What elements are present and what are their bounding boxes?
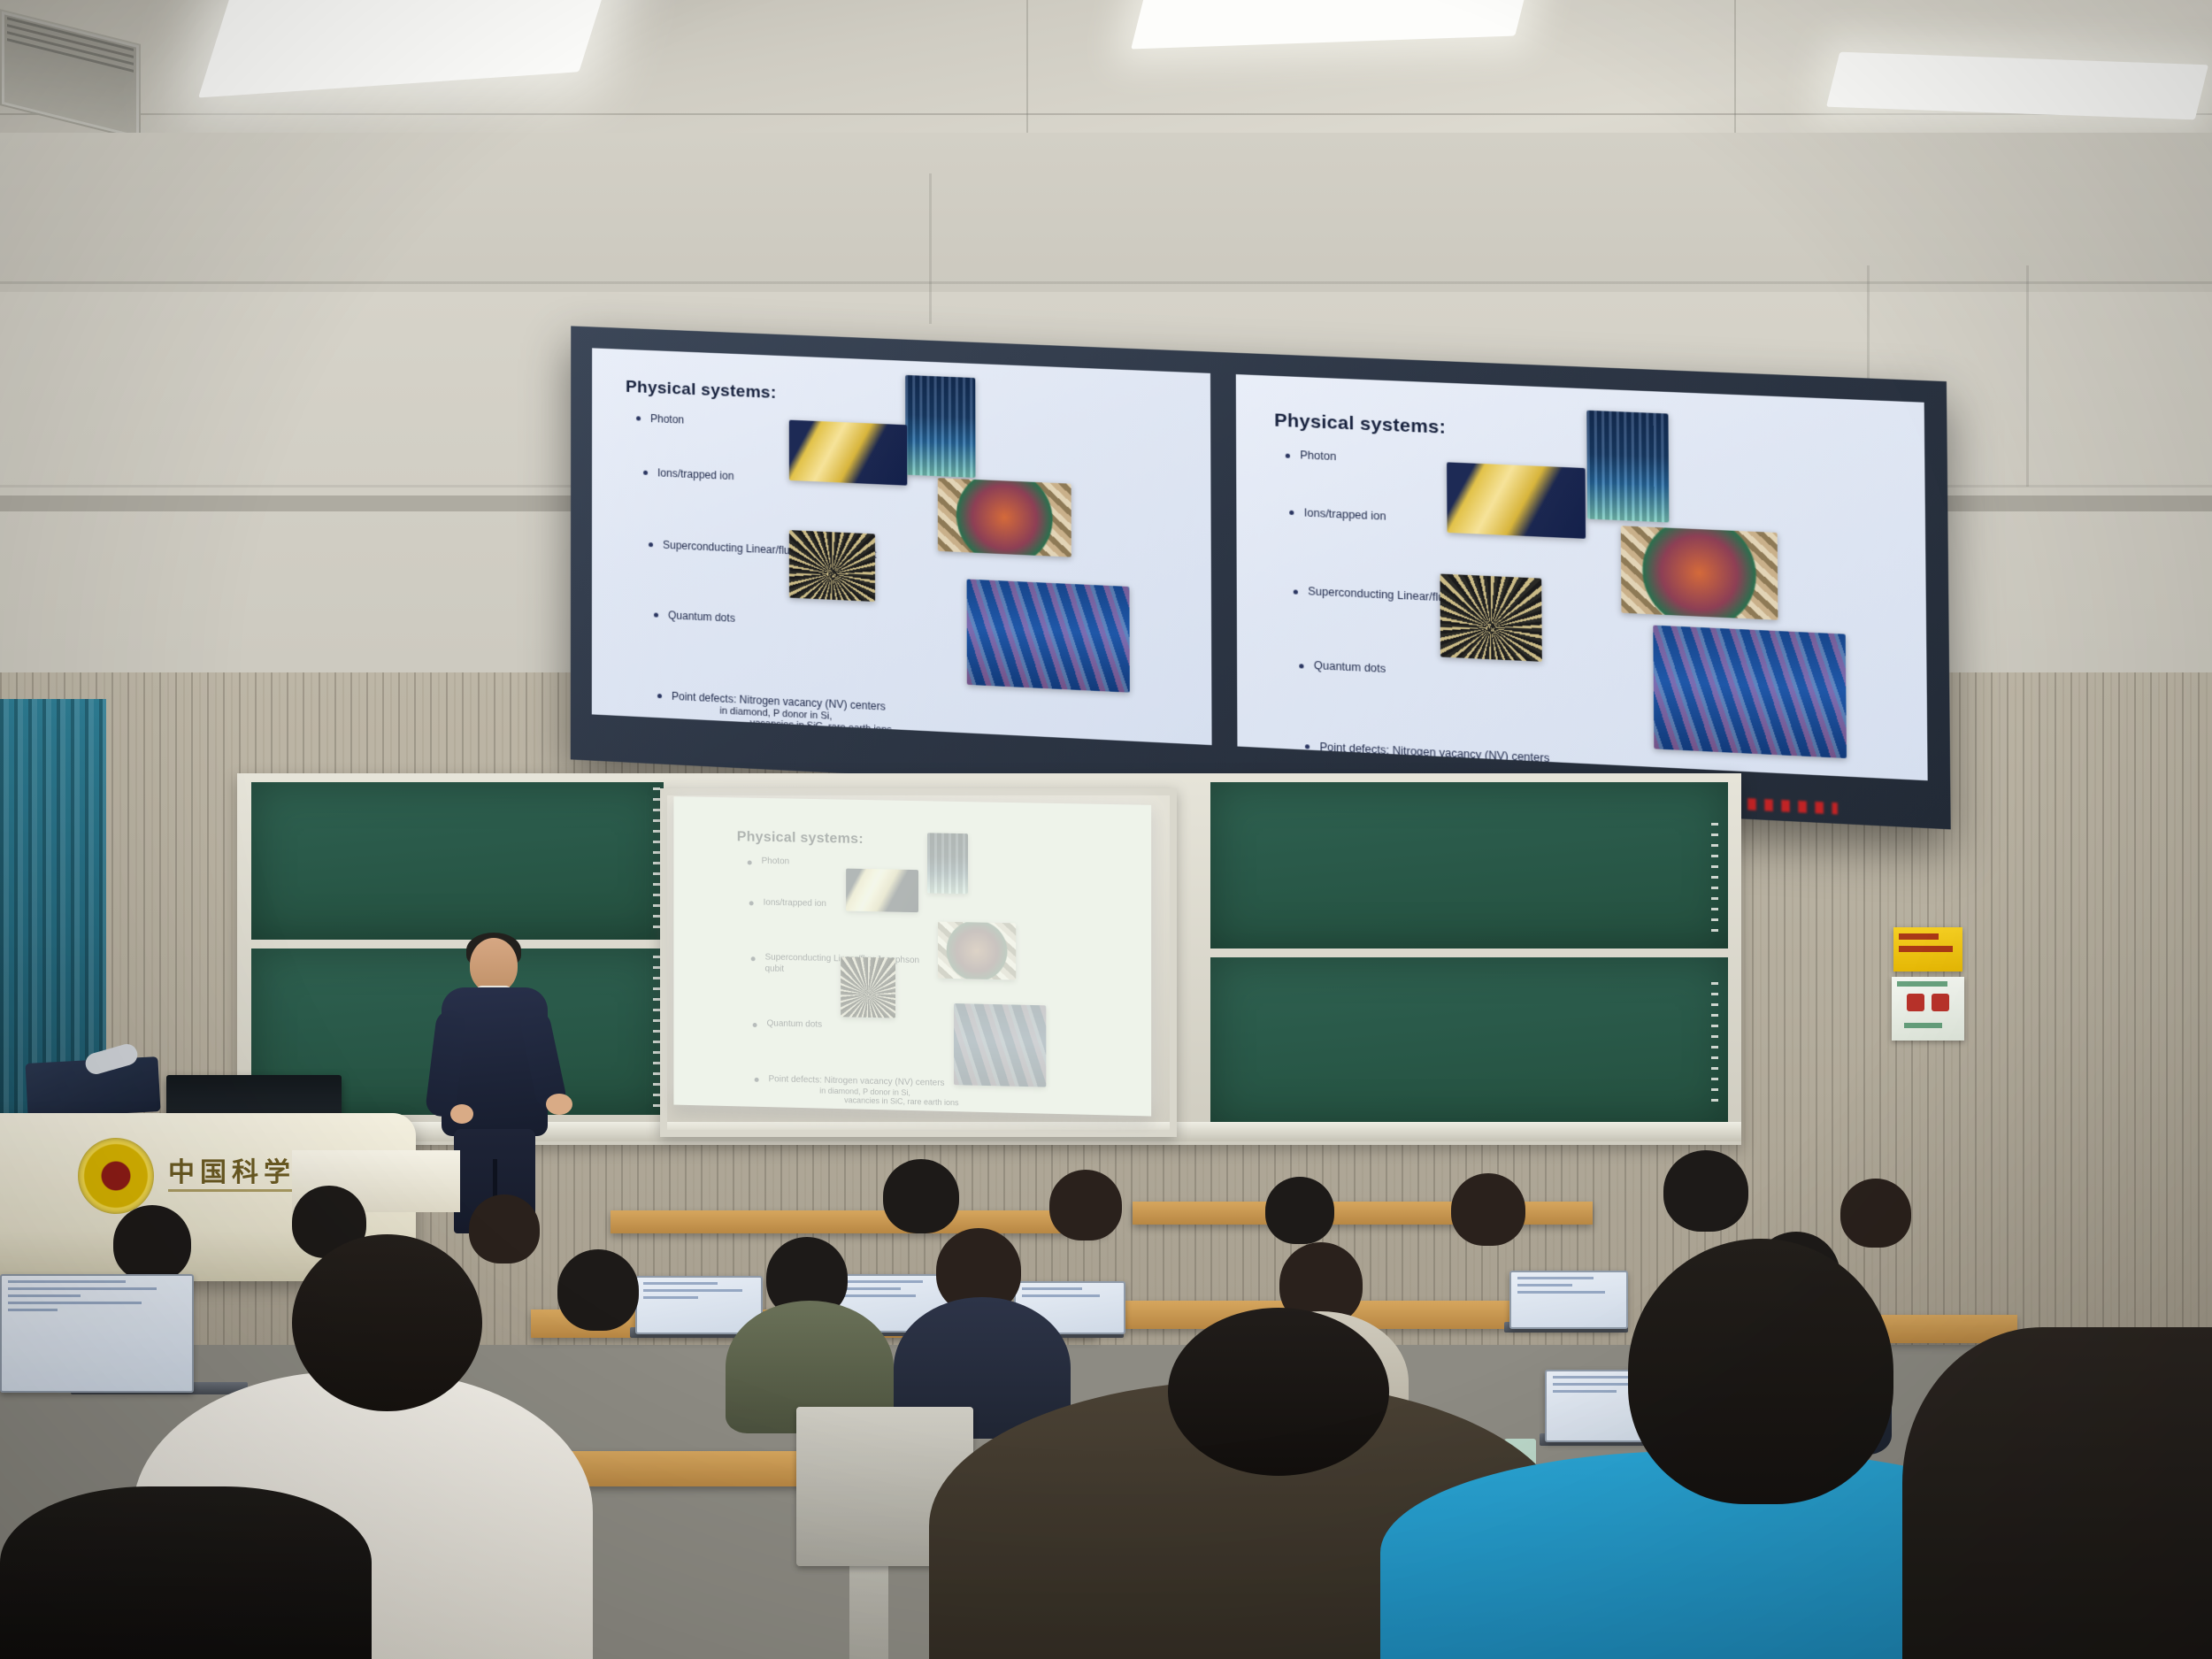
student-head: [557, 1249, 639, 1331]
laptop-screen[interactable]: [1509, 1271, 1628, 1329]
student-head: [1049, 1170, 1122, 1240]
foreground-student-dark-left: [0, 1486, 372, 1659]
slide-left: Physical systems: Photon Ions/trapped io…: [592, 348, 1212, 745]
lecture-hall-photo: Physical systems: Photon Ions/trapped io…: [0, 0, 2212, 1659]
foreground-student-head: [292, 1234, 482, 1411]
wall-seam: [929, 173, 932, 324]
slide-right: Physical systems: Photon Ions/trapped io…: [1236, 374, 1928, 780]
photon-beamsplitter-photo: [905, 375, 975, 478]
trapped-ion-trap-photo: [846, 869, 918, 913]
chalkboard-track-ticks: [653, 787, 660, 936]
quantum-dot-device-photo: [841, 956, 895, 1018]
trapped-ion-trap-photo: [1447, 462, 1586, 538]
left-chalkboard: [251, 782, 664, 940]
student-head: [1663, 1150, 1748, 1232]
slide-bullet: Photon: [744, 856, 902, 870]
desk: [611, 1210, 1106, 1233]
nv-center-lattice-photo: [1653, 626, 1847, 758]
ceiling-seam: [0, 113, 2212, 115]
student-head: [113, 1205, 191, 1281]
presenter-head: [470, 938, 518, 993]
slide-bullet: Quantum dots: [1295, 658, 1507, 682]
josephson-chip-photo: [938, 478, 1071, 557]
electrical-warning-sign: [1893, 927, 1962, 972]
display-bezel: Physical systems: Photon Ions/trapped io…: [571, 326, 1951, 829]
right-chalkboard: [1210, 957, 1728, 1125]
wall-seam: [2026, 265, 2029, 487]
trapped-ion-trap-photo: [789, 420, 908, 486]
chalkboard-track-ticks: [1711, 823, 1718, 938]
slide-bullet: Point defects: Nitrogen vacancy (NV) cen…: [1302, 739, 1606, 768]
slide-bullet: Quantum dots: [749, 1018, 899, 1033]
chalkboard-track-ticks: [653, 956, 660, 1108]
student-head: [1451, 1173, 1525, 1246]
wall-seam: [0, 281, 2212, 284]
student-head: [469, 1194, 540, 1263]
foreground-student-head: [1168, 1308, 1389, 1476]
chalkboard-track-ticks: [1711, 982, 1718, 1106]
university-emblem: [78, 1138, 154, 1214]
nv-center-lattice-photo: [954, 1003, 1046, 1087]
slide-bullet: Quantum dots: [650, 608, 847, 631]
student-head: [1840, 1179, 1911, 1248]
projection-screen: Physical systems: Photon Ions/trapped io…: [672, 801, 1150, 1110]
wall-display[interactable]: Physical systems: Photon Ions/trapped io…: [571, 326, 1907, 759]
nv-center-lattice-photo: [967, 580, 1130, 693]
photon-beamsplitter-photo: [1586, 411, 1669, 523]
josephson-chip-photo: [938, 922, 1016, 980]
evacuation-info-sign: [1892, 977, 1964, 1041]
quantum-dot-device-photo: [1440, 573, 1541, 661]
slide-projected: Physical systems: Photon Ions/trapped io…: [673, 796, 1151, 1116]
foreground-student-right: [1902, 1327, 2212, 1659]
presenter-right-hand: [546, 1094, 572, 1115]
student-head: [883, 1159, 959, 1233]
display-pane-left[interactable]: Physical systems: Photon Ions/trapped io…: [592, 348, 1212, 745]
student-head: [1265, 1177, 1334, 1244]
laptop-screen[interactable]: [0, 1274, 194, 1393]
quantum-dot-device-photo: [789, 530, 875, 602]
photon-beamsplitter-photo: [927, 833, 968, 894]
projection-surface: Physical systems: Photon Ions/trapped io…: [673, 796, 1151, 1116]
foreground-student-head: [1628, 1239, 1893, 1504]
display-pane-right[interactable]: Physical systems: Photon Ions/trapped io…: [1236, 374, 1928, 780]
right-chalkboard: [1210, 782, 1728, 949]
presenter-left-hand: [450, 1104, 473, 1124]
josephson-chip-photo: [1621, 526, 1778, 620]
